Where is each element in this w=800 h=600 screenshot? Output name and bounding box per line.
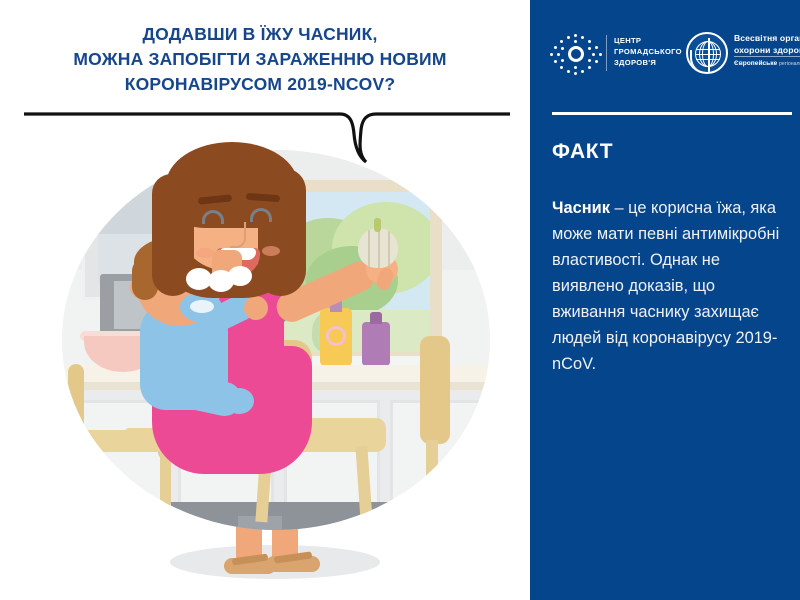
baby-foot [224, 388, 254, 414]
fact-body-text: – це корисна їжа, яка може мати певні ан… [552, 199, 779, 373]
who-emblem [686, 32, 728, 74]
who-logo-icon [686, 32, 728, 74]
phc-dot [588, 66, 591, 69]
who-text-rule [734, 56, 800, 57]
illustration [0, 150, 530, 600]
phc-dot [588, 40, 591, 43]
phc-dot [561, 47, 564, 50]
who-laurel-right [712, 50, 728, 74]
phc-dot [599, 53, 602, 56]
phc-dot [561, 59, 564, 62]
phc-dot [567, 36, 570, 39]
garlic-stem [374, 218, 381, 232]
phc-dot [581, 36, 584, 39]
phc-dot [574, 34, 577, 37]
who-text-line-1: Всесвітня організація [734, 33, 800, 45]
pacifier-inner [190, 300, 214, 313]
garlic-segment-1 [368, 228, 370, 268]
baby-hand [244, 296, 268, 320]
phc-dot [560, 66, 563, 69]
fact-label: ФАКТ [552, 140, 613, 164]
headline-line-3: КОРОНАВІРУСОМ 2019-NCOV? [10, 72, 510, 97]
right-panel: ЦЕНТР ГРОМАДСЬКОГО ЗДОРОВ'Я [530, 0, 800, 600]
left-pane: ДОДАВШИ В ЇЖУ ЧАСНИК, МОЖНА ЗАПОБІГТИ ЗА… [0, 0, 530, 600]
phc-dot [554, 46, 557, 49]
who-text-line-2: охорони здоров'я [734, 45, 800, 57]
phc-dot [592, 53, 595, 56]
phc-dot [560, 40, 563, 43]
public-health-center-logo-icon [550, 32, 602, 76]
logo-divider [606, 35, 607, 71]
phc-dot [557, 53, 560, 56]
phc-dot [554, 60, 557, 63]
headline-line-1: ДОДАВШИ В ЇЖУ ЧАСНИК, [10, 22, 510, 47]
who-regional-office-bold: Європейське [734, 60, 777, 67]
woman-collar-right [228, 266, 252, 286]
who-laurel-left [690, 50, 706, 74]
phc-dot [595, 60, 598, 63]
who-regional-office: Європейське регіональне бюро [734, 60, 800, 67]
woman-nose [230, 222, 246, 248]
phc-text-line-1: ЦЕНТР [614, 35, 682, 46]
phc-text-line-3: ЗДОРОВ'Я [614, 57, 682, 68]
public-health-center-logo-text: ЦЕНТР ГРОМАДСЬКОГО ЗДОРОВ'Я [614, 35, 682, 68]
panel-divider [552, 112, 792, 115]
phc-dot [588, 47, 591, 50]
headline-line-2: МОЖНА ЗАПОБІГТИ ЗАРАЖЕННЮ НОВИМ [10, 47, 510, 72]
infographic-poster: ДОДАВШИ В ЇЖУ ЧАСНИК, МОЖНА ЗАПОБІГТИ ЗА… [0, 0, 800, 600]
phc-dot [595, 46, 598, 49]
who-logo-text: Всесвітня організація охорони здоров'я [734, 33, 800, 56]
phc-dot [550, 53, 553, 56]
garlic-segment-3 [388, 228, 390, 268]
phc-dot [588, 59, 591, 62]
woman-cheek-right [262, 246, 280, 256]
phc-dot [581, 70, 584, 73]
fact-body: Часник – це корисна їжа, яка може мати п… [552, 195, 780, 377]
phc-text-line-2: ГРОМАДСЬКОГО [614, 46, 682, 57]
woman-figure [0, 150, 530, 600]
phc-dot [574, 40, 577, 43]
phc-ring [568, 46, 584, 62]
fact-lead-word: Часник [552, 199, 610, 217]
garlic-bulb [358, 228, 398, 268]
logo-row: ЦЕНТР ГРОМАДСЬКОГО ЗДОРОВ'Я [548, 30, 792, 78]
phc-dot [574, 66, 577, 69]
who-regional-office-thin: регіональне бюро [779, 61, 800, 67]
phc-dot [574, 72, 577, 75]
headline: ДОДАВШИ В ЇЖУ ЧАСНИК, МОЖНА ЗАПОБІГТИ ЗА… [10, 22, 510, 97]
phc-dot [567, 70, 570, 73]
who-asclepius-rod [708, 38, 710, 72]
garlic-segment-2 [378, 228, 380, 268]
